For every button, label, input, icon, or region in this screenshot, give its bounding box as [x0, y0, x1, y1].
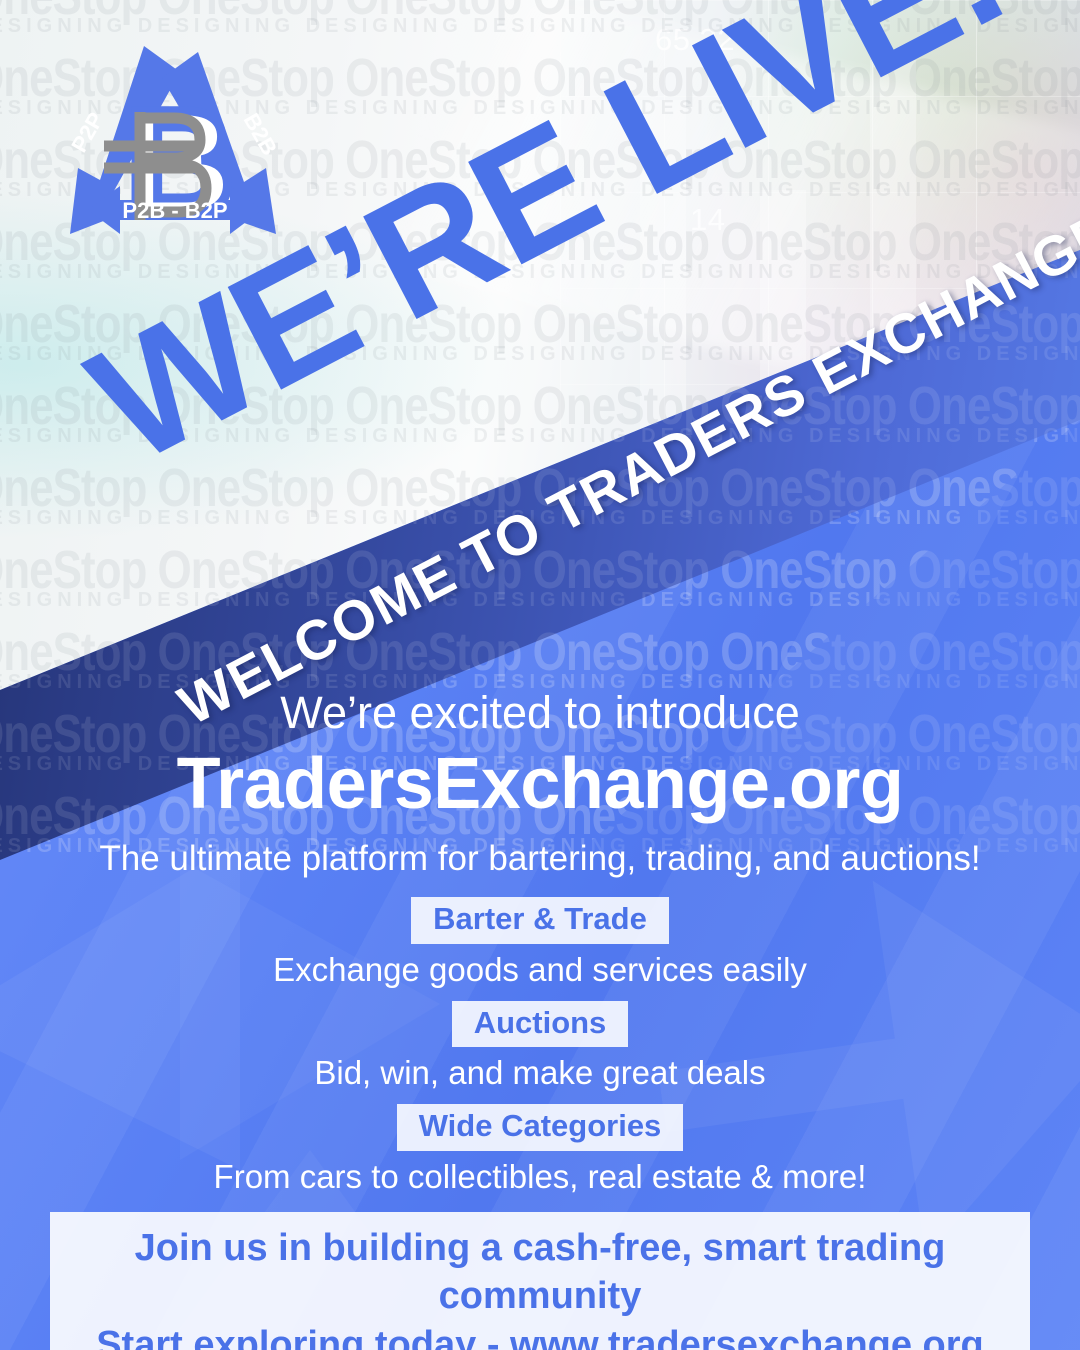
- feature-badge: Barter & Trade: [411, 897, 669, 944]
- feature-badge: Auctions: [452, 1001, 629, 1048]
- feature-description: Exchange goods and services easily: [0, 951, 1080, 989]
- svg-text:B2B: B2B: [239, 109, 283, 160]
- promo-poster: 65.32 14 OneStop OneStop OneStop OneStop…: [0, 0, 1080, 1350]
- feature-list: Barter & Trade Exchange goods and servic…: [0, 897, 1080, 1196]
- feature-description: From cars to collectibles, real estate &…: [0, 1158, 1080, 1196]
- feature-item: Barter & Trade Exchange goods and servic…: [0, 897, 1080, 989]
- feature-description: Bid, win, and make great deals: [0, 1054, 1080, 1092]
- logo: B P2P B2B P2B - B2P: [48, 34, 302, 266]
- cta-line-1: Join us in building a cash-free, smart t…: [60, 1224, 1020, 1321]
- feature-item: Wide Categories From cars to collectible…: [0, 1104, 1080, 1196]
- intro-lead: We’re excited to introduce: [0, 688, 1080, 738]
- svg-text:P2B - B2P: P2B - B2P: [122, 198, 227, 223]
- feature-badge: Wide Categories: [397, 1104, 684, 1151]
- content-block: We’re excited to introduce TradersExchan…: [0, 688, 1080, 1350]
- logo-label-b2b: B2B: [239, 109, 283, 160]
- tagline: The ultimate platform for bartering, tra…: [0, 839, 1080, 879]
- site-name: TradersExchange.org: [0, 744, 1080, 825]
- cta-panel: Join us in building a cash-free, smart t…: [50, 1212, 1030, 1350]
- logo-label-p2b-b2p: P2B - B2P: [122, 198, 227, 223]
- feature-item: Auctions Bid, win, and make great deals: [0, 1001, 1080, 1093]
- cta-line-2[interactable]: Start exploring today - www.tradersexcha…: [60, 1321, 1020, 1350]
- logo-label-p2p: P2P: [66, 108, 108, 157]
- svg-text:P2P: P2P: [66, 108, 108, 157]
